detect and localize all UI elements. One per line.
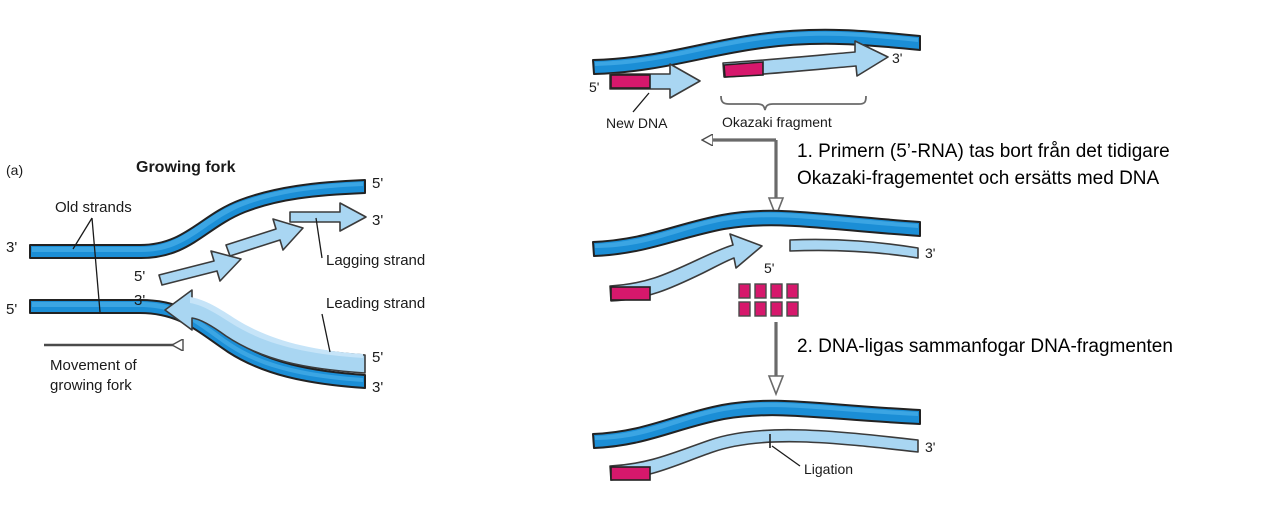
end-label-left-top: 3' <box>6 239 17 256</box>
figure-canvas: (a) Growing fork Old strands <box>0 0 1270 522</box>
label-ligation: Ligation <box>804 461 853 477</box>
panel-letter-a: (a) <box>6 162 23 178</box>
removed-rna-nucleotides <box>739 284 798 316</box>
rna-primer-bottom <box>611 467 650 480</box>
dna-replication-diagram: (a) Growing fork Old strands <box>0 0 1270 522</box>
transition-arrow-2 <box>769 322 783 394</box>
down-arrow-icon <box>769 376 783 394</box>
label-okazaki-fragment: Okazaki fragment <box>722 114 832 130</box>
end-label-right-bottom-inner: 5' <box>372 349 383 366</box>
end-label-right-top-outer: 5' <box>372 175 383 192</box>
step-middle-three-prime: 3' <box>925 245 935 261</box>
right-panel-step-top: 5' 3' New DNA Okazaki fragment <box>589 30 920 131</box>
end-label-right-top-inner: 3' <box>372 212 383 229</box>
end-label-left-bottom: 5' <box>6 301 17 318</box>
step-top-three-prime: 3' <box>892 50 902 66</box>
label-movement-line2: growing fork <box>50 377 132 394</box>
step-middle-five-prime: 5' <box>764 260 774 276</box>
end-label-fork-upper: 5' <box>134 268 145 285</box>
leader-ligation <box>772 446 800 466</box>
label-new-dna: New DNA <box>606 115 668 131</box>
leader-lagging-strand <box>316 218 322 258</box>
leader-old-strands-lower <box>92 218 100 312</box>
label-leading-strand: Leading strand <box>326 295 425 312</box>
end-label-right-bottom-outer: 3' <box>372 379 383 396</box>
step-bottom-three-prime: 3' <box>925 439 935 455</box>
left-panel-growing-fork: (a) Growing fork Old strands <box>6 159 425 396</box>
end-label-fork-lower: 3' <box>134 292 145 309</box>
transition-arrow-1 <box>708 140 783 216</box>
downstream-strand-middle <box>790 239 918 258</box>
curly-brace-icon <box>721 96 866 110</box>
step-one-text-line1: 1. Primern (5’-RNA) tas bort från det ti… <box>797 141 1170 162</box>
right-panel-step-middle: 5' 3' <box>593 211 935 316</box>
step-top-five-prime: 5' <box>589 79 599 95</box>
rna-primer-okazaki <box>724 62 763 77</box>
step-one-text-line2: Okazaki-fragementet och ersätts med DNA <box>797 168 1160 189</box>
label-lagging-strand: Lagging strand <box>326 252 425 269</box>
left-panel-title: Growing fork <box>136 159 236 176</box>
leader-new-dna <box>633 93 649 112</box>
right-panel-step-bottom: Ligation 3' <box>593 401 935 480</box>
rna-primer-left <box>611 75 650 88</box>
rna-primer-middle <box>611 287 650 300</box>
leader-leading-strand <box>322 314 330 352</box>
label-movement-line1: Movement of <box>50 357 138 374</box>
label-old-strands: Old strands <box>55 199 132 216</box>
step-two-text: 2. DNA-ligas sammanfogar DNA-fragmenten <box>797 336 1173 357</box>
